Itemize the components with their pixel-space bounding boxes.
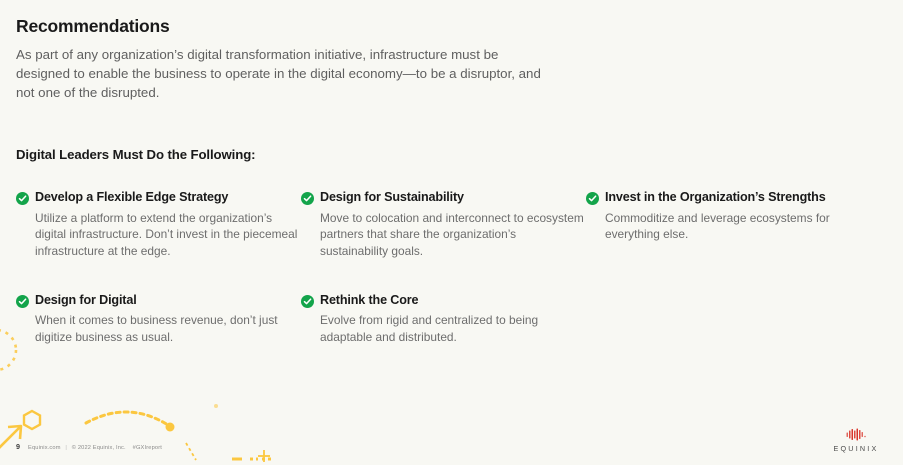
footer-hashtag: #GXIreport: [133, 445, 162, 451]
recommendation-row: Develop a Flexible Edge Strategy Utilize…: [16, 190, 888, 260]
check-circle-icon: [16, 192, 29, 205]
section-heading: Digital Leaders Must Do the Following:: [16, 147, 255, 162]
card-title: Design for Sustainability: [320, 190, 586, 206]
card-description: When it comes to business revenue, don’t…: [35, 312, 301, 345]
card-title: Rethink the Core: [320, 293, 586, 309]
card-body: Rethink the Core Evolve from rigid and c…: [320, 293, 586, 346]
recommendation-card: Design for Sustainability Move to coloca…: [301, 190, 586, 260]
footer-meta: Equinix.com | © 2022 Equinix, Inc. #GXIr…: [28, 445, 162, 451]
card-description: Commoditize and leverage ecosystems for …: [605, 210, 871, 243]
footer-site: Equinix.com: [28, 445, 61, 451]
arc-end-dot-decor: [166, 423, 175, 432]
card-body: Develop a Flexible Edge Strategy Utilize…: [35, 190, 301, 260]
check-circle-icon: [301, 295, 314, 308]
check-circle-icon: [301, 192, 314, 205]
equinix-logo: EQUINIX: [825, 428, 887, 453]
check-circle-icon: [16, 295, 29, 308]
intro-paragraph: As part of any organization’s digital tr…: [16, 46, 556, 103]
equinix-logo-mark: [845, 428, 867, 441]
diagonal-dash-decor: [186, 443, 196, 460]
card-title: Design for Digital: [35, 293, 301, 309]
footer-separator: |: [62, 445, 70, 451]
recommendation-card: Invest in the Organization’s Strengths C…: [586, 190, 871, 243]
dashed-circle-decor: [0, 330, 16, 370]
card-body: Design for Sustainability Move to coloca…: [320, 190, 586, 260]
dashed-arc-decor: [86, 412, 168, 425]
recommendation-row: Design for Digital When it comes to busi…: [16, 293, 888, 346]
card-description: Move to colocation and interconnect to e…: [320, 210, 586, 260]
small-dot-decor: [214, 404, 218, 408]
footer: 9 Equinix.com | © 2022 Equinix, Inc. #GX…: [16, 442, 162, 451]
card-title: Develop a Flexible Edge Strategy: [35, 190, 301, 206]
card-description: Utilize a platform to extend the organiz…: [35, 210, 301, 260]
page-title: Recommendations: [16, 16, 576, 37]
header: Recommendations As part of any organizat…: [16, 16, 576, 103]
slide-canvas: Recommendations As part of any organizat…: [0, 0, 903, 465]
card-description: Evolve from rigid and centralized to bei…: [320, 312, 586, 345]
recommendation-card: Rethink the Core Evolve from rigid and c…: [301, 293, 586, 346]
recommendation-card: Develop a Flexible Edge Strategy Utilize…: [16, 190, 301, 260]
card-body: Design for Digital When it comes to busi…: [35, 293, 301, 346]
recommendations-grid: Develop a Flexible Edge Strategy Utilize…: [16, 190, 888, 345]
recommendation-card: Design for Digital When it comes to busi…: [16, 293, 301, 346]
hexagon-outline-decor: [24, 411, 40, 429]
footer-copyright: © 2022 Equinix, Inc.: [72, 445, 126, 451]
card-body: Invest in the Organization’s Strengths C…: [605, 190, 871, 243]
plus-decor: [258, 450, 270, 462]
page-number: 9: [16, 442, 20, 451]
card-title: Invest in the Organization’s Strengths: [605, 190, 871, 206]
check-circle-icon: [586, 192, 599, 205]
equinix-wordmark: EQUINIX: [825, 444, 887, 453]
